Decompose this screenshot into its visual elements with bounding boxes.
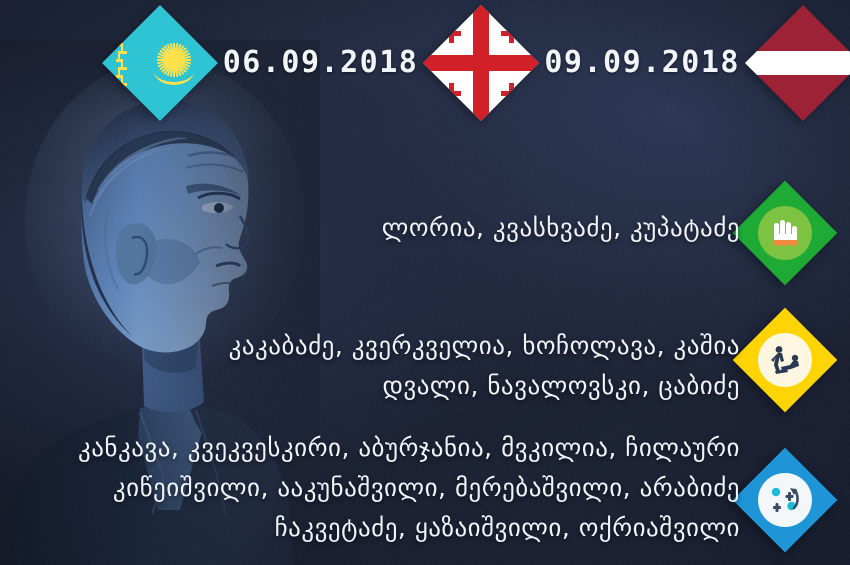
defenders-names: კაკაბაძე, კვერკველია, ხოჩოლავა, კაშია დვ… [229, 326, 740, 406]
header-bar: 06.09.2018 [0, 0, 850, 125]
match-date-2: 09.09.2018 [522, 45, 762, 80]
goalkeeper-glove-icon [733, 181, 838, 286]
names-line: კანკავა, კვეკვესკირი, აბურჯანია, მვკილია… [78, 428, 740, 468]
georgia-flag [440, 22, 522, 104]
latvia-flag [762, 22, 844, 104]
match-date-1: 06.09.2018 [201, 45, 441, 80]
poster-canvas: 06.09.2018 [0, 0, 850, 565]
tactics-board-icon [733, 448, 838, 553]
defenders-tackle-icon [733, 308, 838, 413]
names-line: კაკაბაძე, კვერკველია, ხოჩოლავა, კაშია [229, 326, 740, 366]
midfielders-names: კანკავა, კვეკვესკირი, აბურჯანია, მვკილია… [78, 428, 740, 548]
goalkeepers-names: ლორია, კვასხვაძე, კუპატაძე [382, 208, 740, 248]
names-line: კიწეიშვილი, ააკუნაშვილი, მერებაშვილი, არ… [78, 468, 740, 508]
names-line: დვალი, ნავალოვსკი, ცაბიძე [229, 366, 740, 406]
names-line: ჩაკვეტაძე, ყაზაიშვილი, ოქრიაშვილი [78, 508, 740, 548]
names-line: ლორია, კვასხვაძე, კუპატაძე [382, 208, 740, 248]
kazakhstan-flag [119, 22, 201, 104]
